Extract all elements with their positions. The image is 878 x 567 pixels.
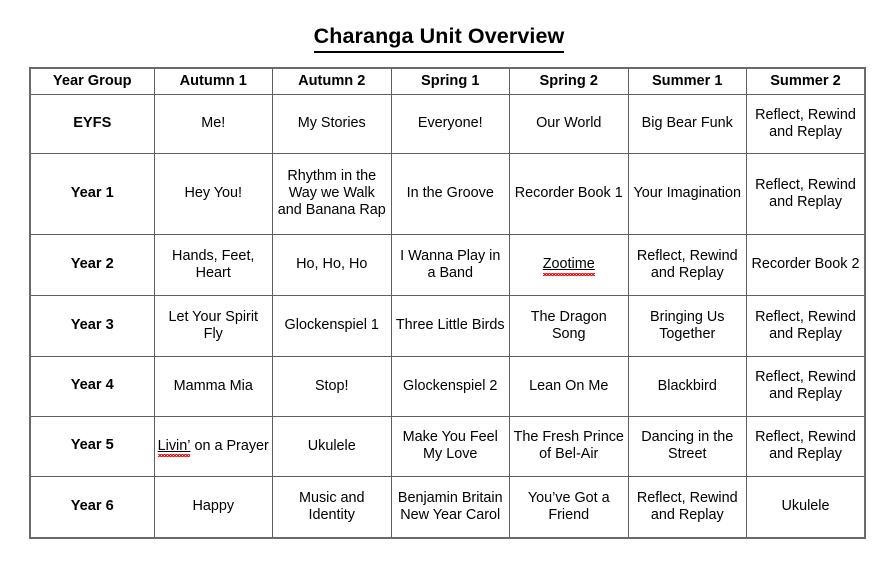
column-header-summer-2: Summer 2 bbox=[747, 68, 866, 94]
column-header-summer-1: Summer 1 bbox=[628, 68, 747, 94]
unit-cell: Benjamin Britain New Year Carol bbox=[391, 476, 510, 538]
table-row: Year 2Hands, Feet, HeartHo, Ho, HoI Wann… bbox=[30, 234, 865, 295]
unit-cell: Me! bbox=[154, 94, 273, 153]
document-page: Charanga Unit Overview Year Group Autumn… bbox=[0, 0, 878, 567]
unit-cell: Livin’ on a Prayer bbox=[154, 416, 273, 476]
unit-cell: Everyone! bbox=[391, 94, 510, 153]
column-header-spring-2: Spring 2 bbox=[510, 68, 629, 94]
unit-cell: Three Little Birds bbox=[391, 295, 510, 356]
unit-cell: The Dragon Song bbox=[510, 295, 629, 356]
unit-cell: You’ve Got a Friend bbox=[510, 476, 629, 538]
unit-cell: Music and Identity bbox=[273, 476, 392, 538]
unit-cell: Blackbird bbox=[628, 356, 747, 416]
unit-cell: The Fresh Prince of Bel-Air bbox=[510, 416, 629, 476]
unit-cell: Hey You! bbox=[154, 153, 273, 234]
unit-cell: I Wanna Play in a Band bbox=[391, 234, 510, 295]
unit-cell: Zootime bbox=[510, 234, 629, 295]
table-header-row: Year Group Autumn 1 Autumn 2 Spring 1 Sp… bbox=[30, 68, 865, 94]
unit-cell: Reflect, Rewind and Replay bbox=[747, 94, 866, 153]
year-group-cell: Year 5 bbox=[30, 416, 154, 476]
year-group-cell: Year 4 bbox=[30, 356, 154, 416]
page-title: Charanga Unit Overview bbox=[0, 24, 878, 53]
table-row: Year 5Livin’ on a PrayerUkuleleMake You … bbox=[30, 416, 865, 476]
table-row: Year 4Mamma MiaStop!Glockenspiel 2Lean O… bbox=[30, 356, 865, 416]
unit-cell: Reflect, Rewind and Replay bbox=[747, 153, 866, 234]
unit-cell: Bringing Us Together bbox=[628, 295, 747, 356]
unit-cell: Your Imagination bbox=[628, 153, 747, 234]
unit-cell: Reflect, Rewind and Replay bbox=[628, 234, 747, 295]
unit-cell: Make You Feel My Love bbox=[391, 416, 510, 476]
unit-cell: Ho, Ho, Ho bbox=[273, 234, 392, 295]
unit-cell: Reflect, Rewind and Replay bbox=[747, 416, 866, 476]
unit-cell: Reflect, Rewind and Replay bbox=[747, 295, 866, 356]
unit-cell: Our World bbox=[510, 94, 629, 153]
unit-cell: Stop! bbox=[273, 356, 392, 416]
unit-cell: Big Bear Funk bbox=[628, 94, 747, 153]
spellcheck-error-text: Zootime bbox=[543, 256, 595, 273]
unit-cell: Happy bbox=[154, 476, 273, 538]
unit-cell: Lean On Me bbox=[510, 356, 629, 416]
year-group-cell: EYFS bbox=[30, 94, 154, 153]
table-row: EYFSMe!My StoriesEveryone!Our WorldBig B… bbox=[30, 94, 865, 153]
table-row: Year 6HappyMusic and IdentityBenjamin Br… bbox=[30, 476, 865, 538]
unit-overview-table: Year Group Autumn 1 Autumn 2 Spring 1 Sp… bbox=[29, 67, 866, 539]
column-header-spring-1: Spring 1 bbox=[391, 68, 510, 94]
spellcheck-error-text: Livin’ bbox=[158, 438, 191, 455]
year-group-cell: Year 6 bbox=[30, 476, 154, 538]
unit-cell-highlighted: Glockenspiel 2 bbox=[391, 356, 510, 416]
table-row: Year 3Let Your Spirit FlyGlockenspiel 1T… bbox=[30, 295, 865, 356]
unit-cell: Let Your Spirit Fly bbox=[154, 295, 273, 356]
unit-cell: My Stories bbox=[273, 94, 392, 153]
unit-cell: Rhythm in the Way we Walk and Banana Rap bbox=[273, 153, 392, 234]
unit-cell: In the Groove bbox=[391, 153, 510, 234]
unit-cell-highlighted: Recorder Book 2 bbox=[747, 234, 866, 295]
unit-cell-highlighted: Ukulele bbox=[747, 476, 866, 538]
unit-cell: Reflect, Rewind and Replay bbox=[747, 356, 866, 416]
unit-cell: Hands, Feet, Heart bbox=[154, 234, 273, 295]
unit-cell-highlighted: Ukulele bbox=[273, 416, 392, 476]
column-header-year-group: Year Group bbox=[30, 68, 154, 94]
column-header-autumn-2: Autumn 2 bbox=[273, 68, 392, 94]
page-title-text: Charanga Unit Overview bbox=[314, 24, 565, 53]
unit-cell: Dancing in the Street bbox=[628, 416, 747, 476]
year-group-cell: Year 3 bbox=[30, 295, 154, 356]
table-row: Year 1Hey You!Rhythm in the Way we Walk … bbox=[30, 153, 865, 234]
year-group-cell: Year 2 bbox=[30, 234, 154, 295]
unit-overview-table-container: Year Group Autumn 1 Autumn 2 Spring 1 Sp… bbox=[29, 67, 864, 539]
unit-cell-highlighted: Glockenspiel 1 bbox=[273, 295, 392, 356]
table-header: Year Group Autumn 1 Autumn 2 Spring 1 Sp… bbox=[30, 68, 865, 94]
column-header-autumn-1: Autumn 1 bbox=[154, 68, 273, 94]
year-group-cell: Year 1 bbox=[30, 153, 154, 234]
unit-cell: Mamma Mia bbox=[154, 356, 273, 416]
unit-cell: Reflect, Rewind and Replay bbox=[628, 476, 747, 538]
unit-cell-highlighted: Recorder Book 1 bbox=[510, 153, 629, 234]
table-body: EYFSMe!My StoriesEveryone!Our WorldBig B… bbox=[30, 94, 865, 538]
